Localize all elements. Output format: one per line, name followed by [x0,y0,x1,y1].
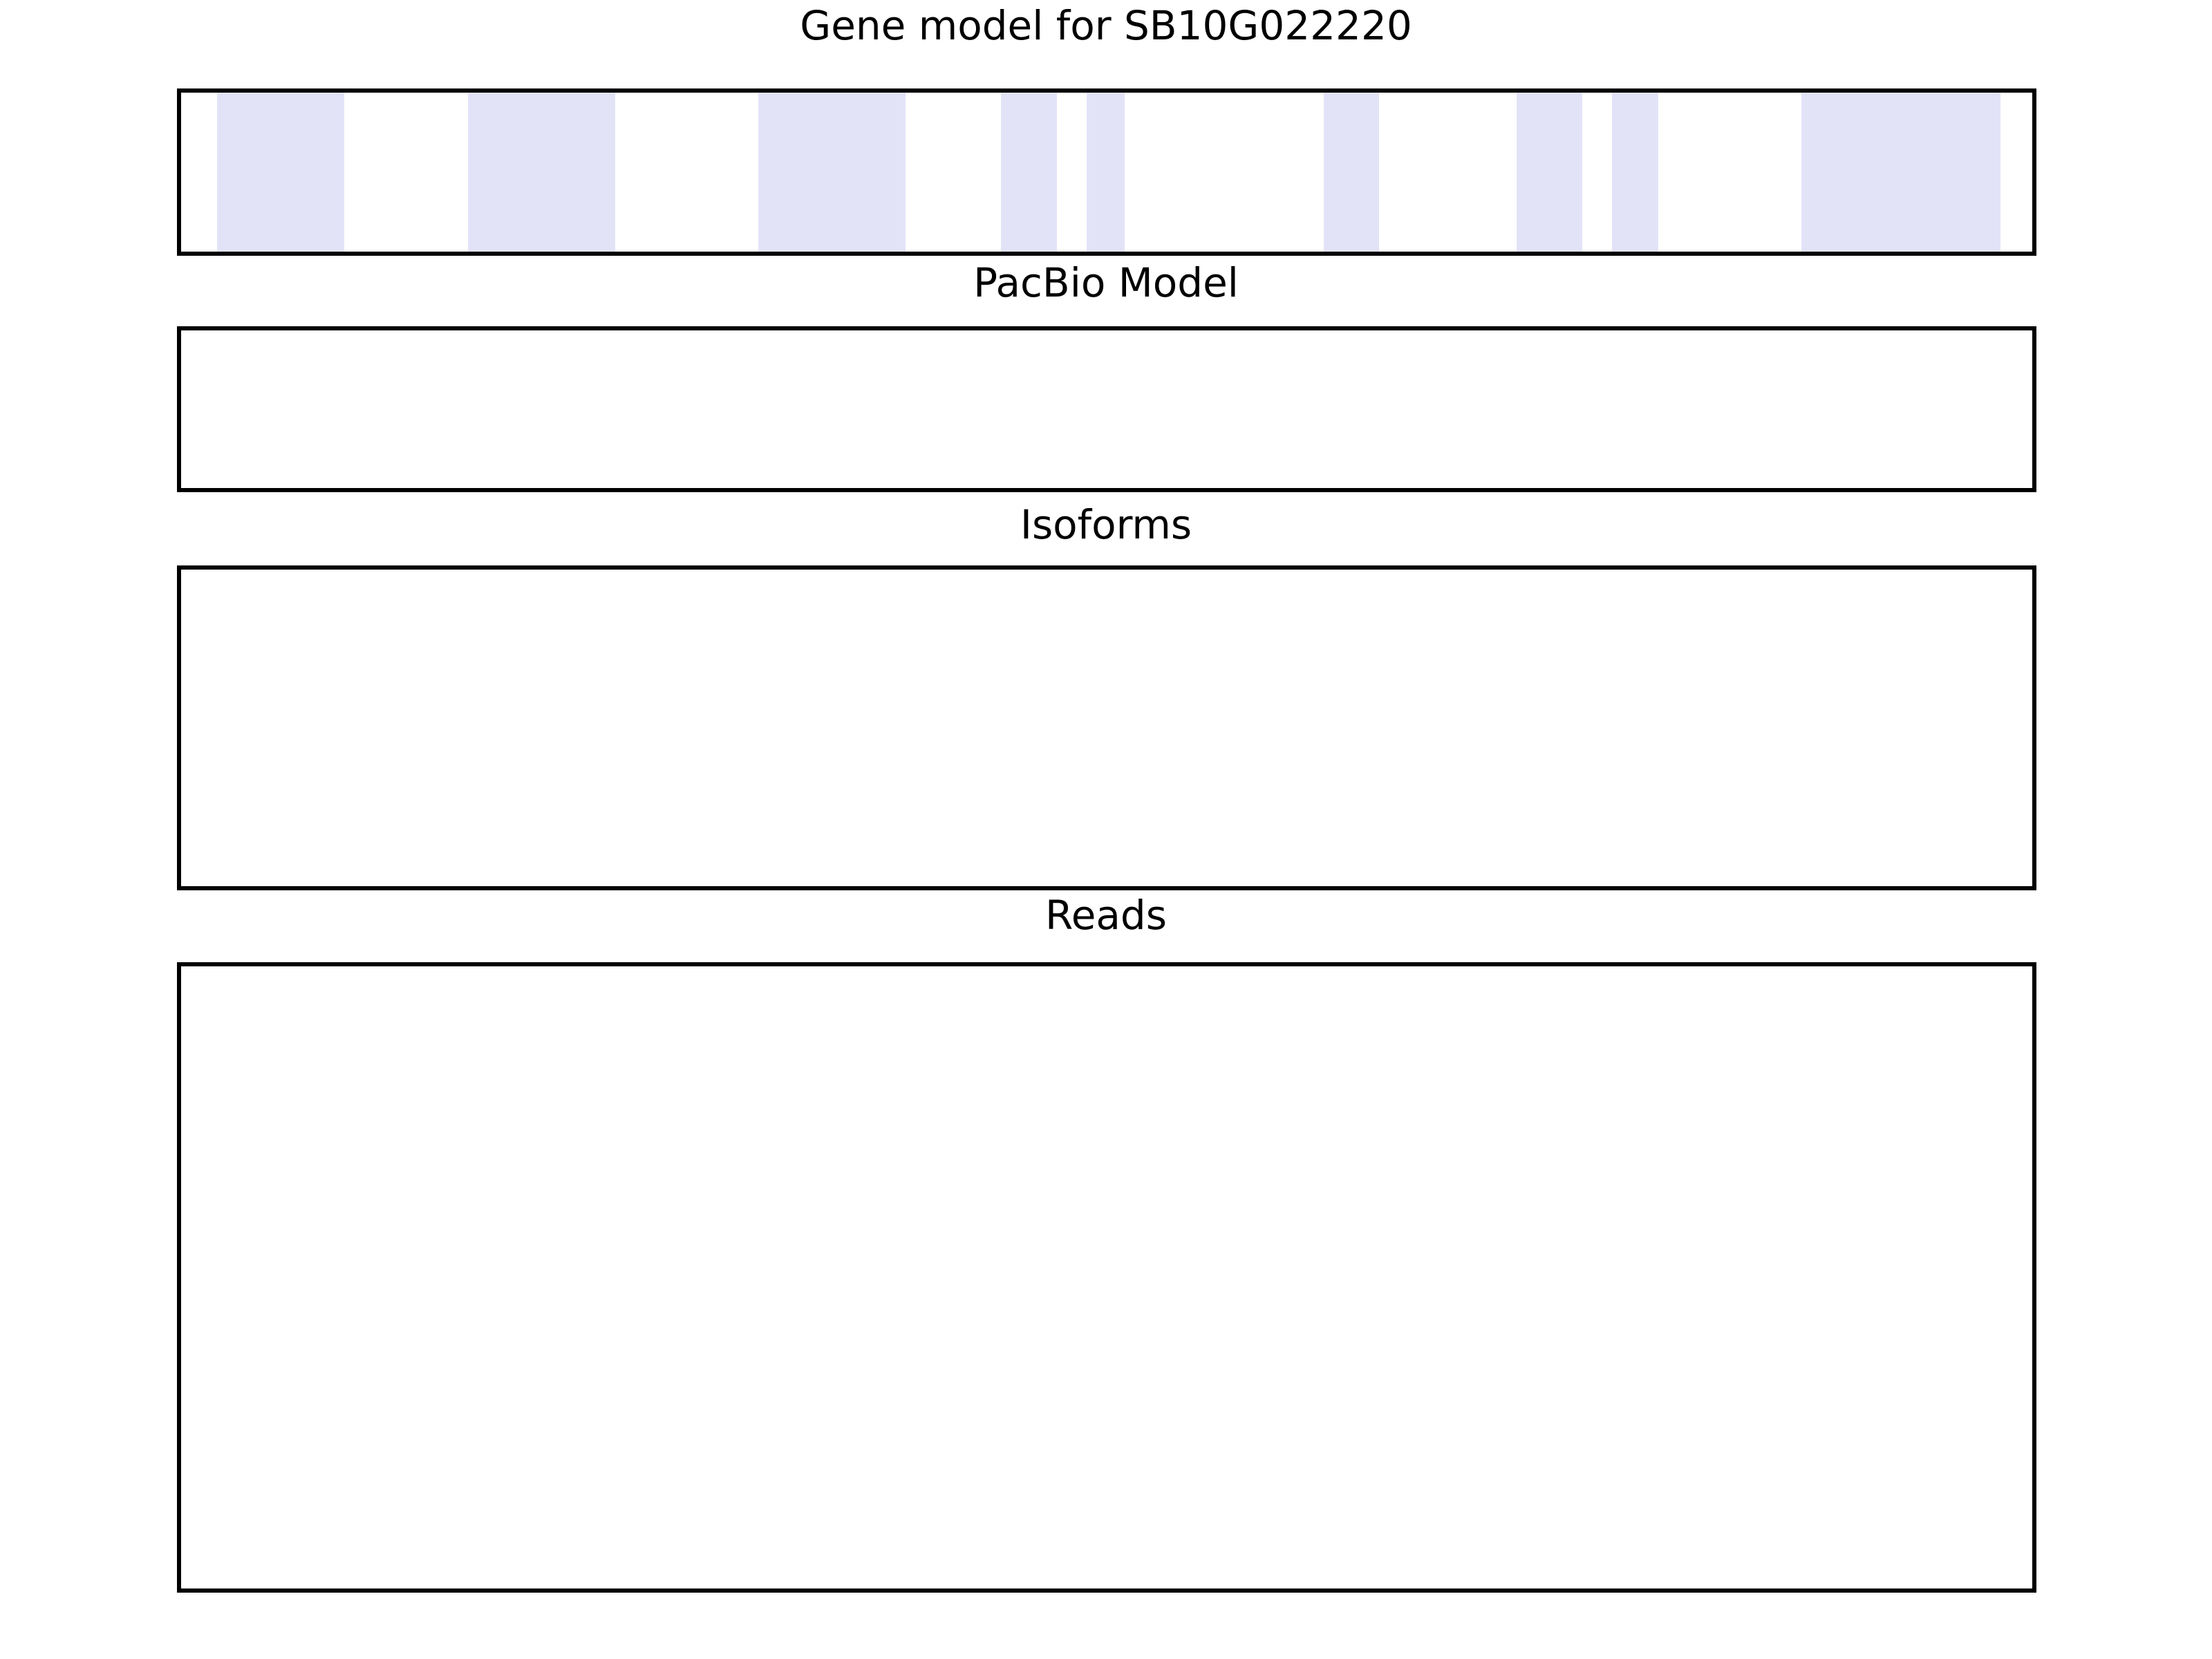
exon-highlight-band [1612,93,1658,252]
panel-reads [177,962,2036,1593]
exon-highlight-band [758,93,906,252]
exon-highlight-band [1801,93,2000,252]
exon-highlight-band [468,93,615,252]
exon-highlight-band [217,93,344,252]
page-title: Gene model for SB10G022220 [0,6,2212,46]
panel-isoforms [177,565,2036,890]
panel-pacbio-model [177,326,2036,492]
panel-gene-model [177,88,2036,256]
exon-highlight-band [1517,93,1582,252]
exon-highlight-band [1087,93,1125,252]
panel-title-pacbio: PacBio Model [0,263,2212,303]
exon-highlight-band [1324,93,1380,252]
panel-title-isoforms: Isoforms [0,505,2212,545]
panel-title-reads: Reads [0,895,2212,935]
exon-highlight-band [1001,93,1057,252]
